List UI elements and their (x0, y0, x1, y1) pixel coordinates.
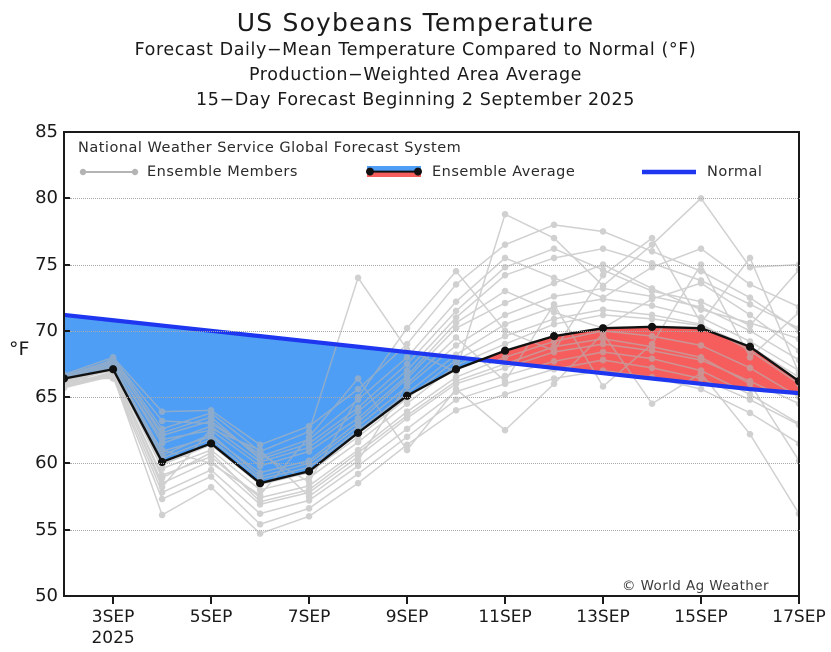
y-tick-mark (63, 396, 70, 398)
grid-line (70, 265, 800, 266)
legend-item-normal[interactable]: Normal (638, 164, 762, 180)
grid-line (70, 397, 800, 398)
grid-line (70, 198, 800, 199)
legend-label-ensemble-members: Ensemble Members (147, 164, 298, 180)
legend-row: Ensemble Members Ensemble Average Normal (78, 164, 778, 182)
grid-line (70, 463, 800, 464)
plot-frame (63, 131, 800, 597)
y-tick-mark (63, 462, 70, 464)
legend-title: National Weather Service Global Forecast… (78, 140, 778, 156)
y-tick-mark (63, 595, 70, 597)
y-tick-mark (63, 197, 70, 199)
grid-line (70, 331, 800, 332)
legend-label-ensemble-average: Ensemble Average (432, 164, 575, 180)
legend-item-ensemble-members[interactable]: Ensemble Members (78, 164, 298, 180)
y-tick-mark (63, 330, 70, 332)
copyright-notice: © World Ag Weather (622, 578, 769, 594)
legend-label-normal: Normal (707, 164, 762, 180)
y-tick-mark (63, 131, 70, 133)
ensemble-member-swatch-icon (78, 166, 140, 178)
chart-page: US Soybeans Temperature Forecast Daily−M… (0, 0, 831, 652)
chart-legend: National Weather Service Global Forecast… (78, 140, 778, 182)
ensemble-average-swatch-icon (363, 164, 425, 180)
normal-line-swatch-icon (638, 166, 700, 178)
y-tick-mark (63, 529, 70, 531)
legend-item-ensemble-average[interactable]: Ensemble Average (363, 164, 575, 180)
y-tick-mark (63, 264, 70, 266)
grid-line (70, 530, 800, 531)
